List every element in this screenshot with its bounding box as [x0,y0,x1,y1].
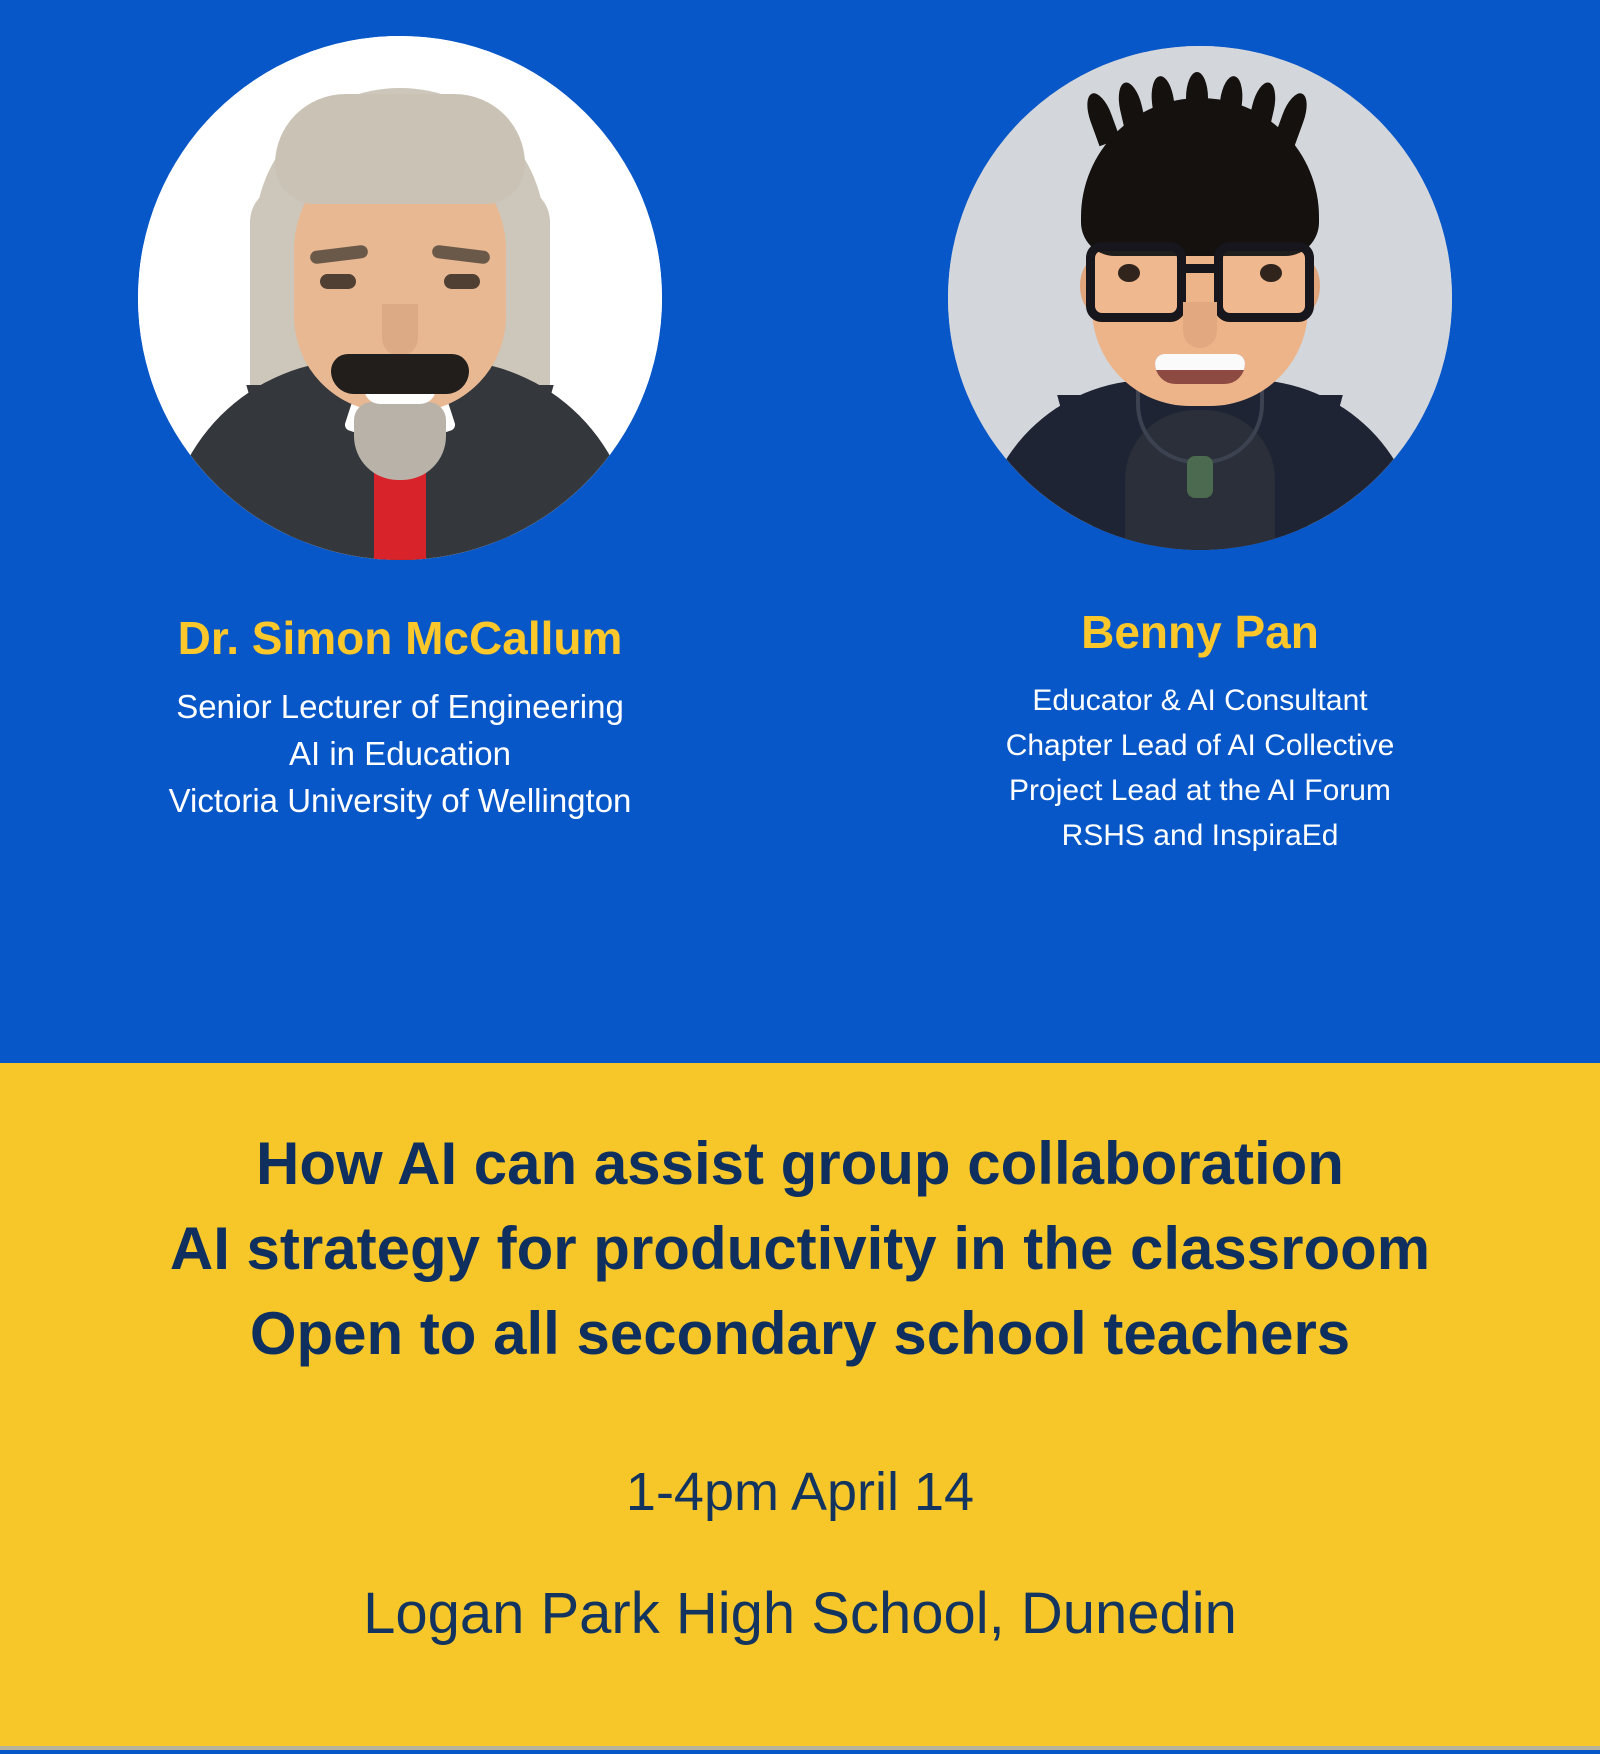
speaker-card-2: Benny Pan Educator & AI Consultant Chapt… [800,0,1600,858]
headline-block: How AI can assist group collaboration AI… [0,1063,1600,1377]
speaker-1-credential-line: Senior Lecturer of Engineering [169,684,632,731]
event-info-block: 1-4pm April 14 Logan Park High School, D… [0,1465,1600,1643]
speaker-2-name: Benny Pan [1081,608,1319,656]
speaker-2-credentials: Educator & AI Consultant Chapter Lead of… [1006,678,1395,858]
headline-line-3: Open to all secondary school teachers [0,1291,1600,1376]
speaker-1-portrait-photo [138,36,662,560]
speaker-2-credential-line: Project Lead at the AI Forum [1006,768,1395,813]
event-details-panel: How AI can assist group collaboration AI… [0,1063,1600,1750]
bottom-edge-strip [0,1746,1600,1750]
event-location: Logan Park High School, Dunedin [0,1585,1600,1643]
speaker-2-credential-line: RSHS and InspiraEd [1006,813,1395,858]
speaker-1-credential-line: AI in Education [169,731,632,778]
speaker-2-credential-line: Educator & AI Consultant [1006,678,1395,723]
speaker-1-credential-line: Victoria University of Wellington [169,778,632,825]
headline-line-1: How AI can assist group collaboration [0,1121,1600,1206]
event-time: 1-4pm April 14 [0,1465,1600,1519]
speaker-1-name: Dr. Simon McCallum [178,614,623,662]
speaker-1-credentials: Senior Lecturer of Engineering AI in Edu… [169,684,632,825]
speaker-2-portrait-photo [948,46,1452,550]
speaker-card-1: Dr. Simon McCallum Senior Lecturer of En… [0,0,800,825]
speaker-2-credential-line: Chapter Lead of AI Collective [1006,723,1395,768]
event-poster: Dr. Simon McCallum Senior Lecturer of En… [0,0,1600,1754]
headline-line-2: AI strategy for productivity in the clas… [0,1206,1600,1291]
speakers-panel: Dr. Simon McCallum Senior Lecturer of En… [0,0,1600,1054]
